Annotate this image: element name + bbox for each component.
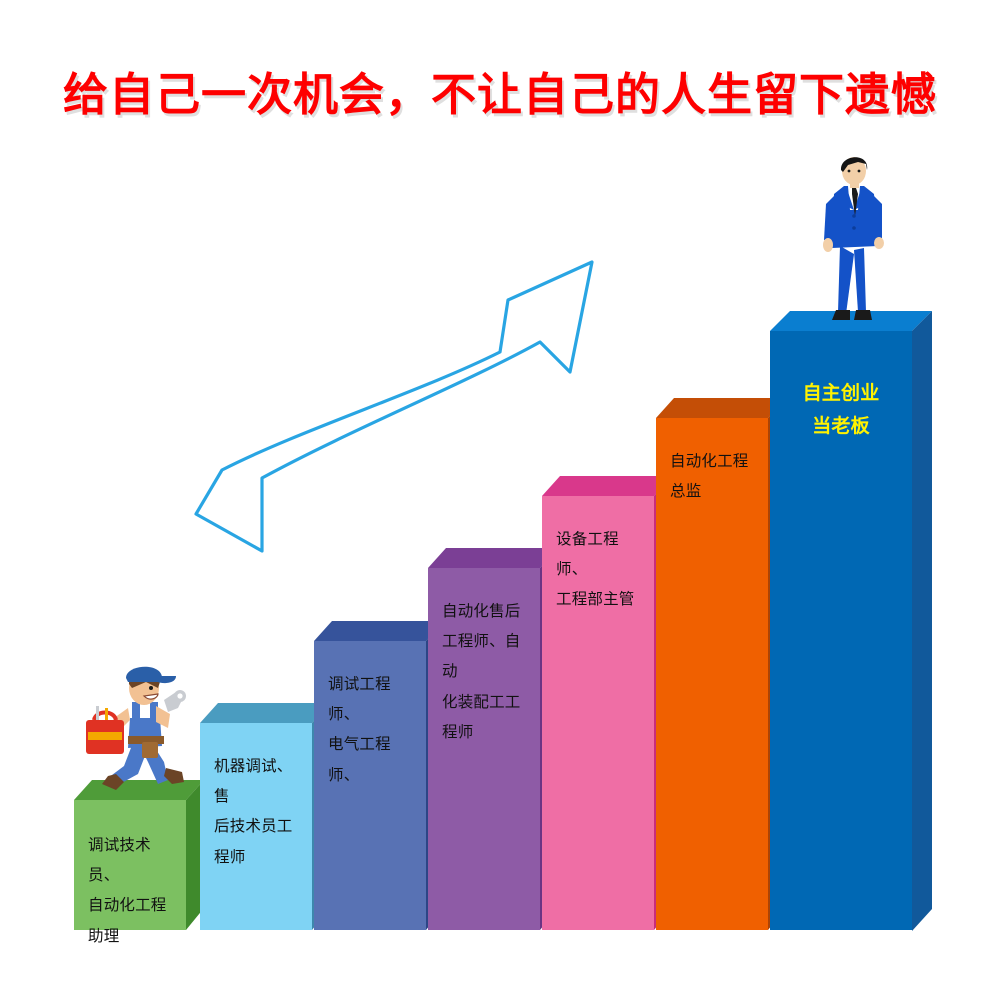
bar-3-label: 调试工程师、 电气工程师、 (314, 669, 426, 790)
bar-3-line-2: 电气工程师、 (328, 729, 412, 789)
bar-1-label: 调试技术员、 自动化工程 助理 (74, 830, 186, 951)
bar-3-line-1: 调试工程师、 (328, 669, 412, 729)
bar-2-line-2: 后技术员工 (214, 811, 298, 841)
bar-1-line-3: 助理 (88, 921, 172, 951)
bar-3[interactable]: 调试工程师、 电气工程师、 (314, 641, 426, 930)
poster-canvas: 给自己一次机会，不让自己的人生留下遗憾 调试技术员、 自动化工程 助理 机器调试… (0, 0, 1000, 988)
bar-4-line-3: 化装配工工 (442, 687, 526, 717)
bar-1-line-2: 自动化工程 (88, 890, 172, 920)
businessman-character (808, 154, 900, 332)
bar-1-line-1: 调试技术员、 (88, 830, 172, 890)
bar-4-line-2: 工程师、自动 (442, 626, 526, 686)
bar-7-label: 自主创业 当老板 (770, 377, 912, 444)
bar-2[interactable]: 机器调试、售 后技术员工 程师 (200, 723, 312, 930)
bar-6-line-1: 自动化工程 (670, 446, 754, 476)
bar-2-line-1: 机器调试、售 (214, 751, 298, 811)
bar-4-line-4: 程师 (442, 717, 526, 747)
bar-2-line-3: 程师 (214, 842, 298, 872)
bar-6[interactable]: 自动化工程 总监 (656, 418, 768, 930)
bar-1[interactable]: 调试技术员、 自动化工程 助理 (74, 800, 186, 930)
technician-character (72, 662, 194, 804)
bar-4-line-1: 自动化售后 (442, 596, 526, 626)
bar-6-line-2: 总监 (670, 476, 754, 506)
bar-7-line-1: 自主创业 (776, 377, 906, 410)
bar-5-line-1: 设备工程师、 (556, 524, 640, 584)
bar-4[interactable]: 自动化售后 工程师、自动 化装配工工 程师 (428, 568, 540, 930)
bar-5[interactable]: 设备工程师、 工程部主管 (542, 496, 654, 930)
bar-5-label: 设备工程师、 工程部主管 (542, 524, 654, 615)
bar-4-label: 自动化售后 工程师、自动 化装配工工 程师 (428, 596, 540, 747)
bar-6-label: 自动化工程 总监 (656, 446, 768, 506)
page-title: 给自己一次机会，不让自己的人生留下遗憾 (0, 58, 1000, 123)
bar-2-label: 机器调试、售 后技术员工 程师 (200, 751, 312, 872)
bar-5-line-2: 工程部主管 (556, 584, 640, 614)
bar-7-line-2: 当老板 (776, 410, 906, 443)
bar-7[interactable]: 自主创业 当老板 (770, 331, 912, 930)
